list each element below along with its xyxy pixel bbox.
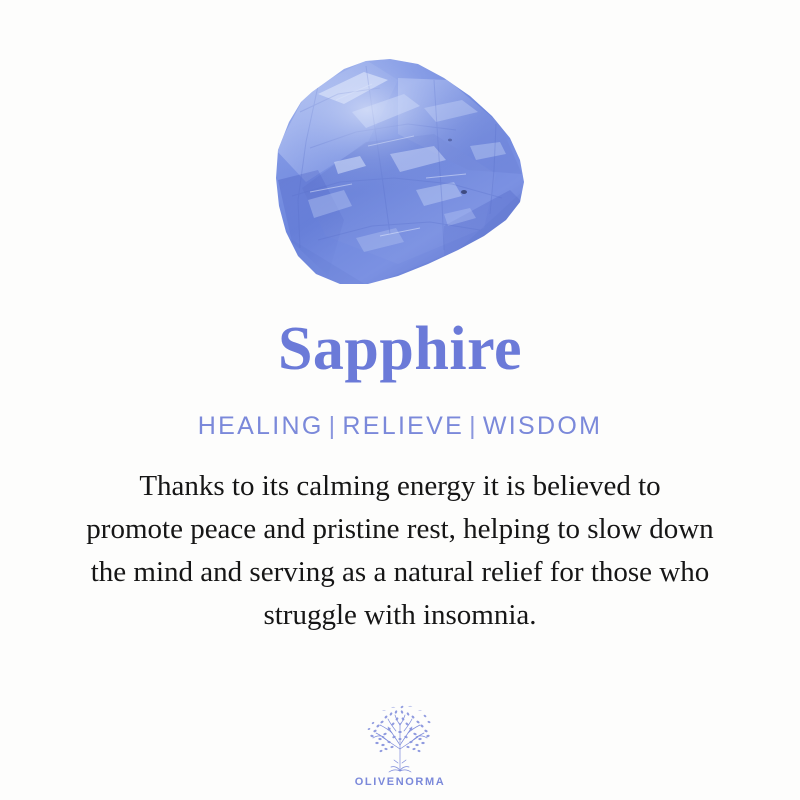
olive-tree-icon: [358, 705, 442, 775]
keyword-wisdom: WISDOM: [483, 412, 602, 440]
page-title: Sapphire: [278, 318, 522, 390]
gemstone-image-area: [0, 0, 800, 318]
keyword-list: HEALING|RELIEVE|WISDOM: [198, 390, 603, 441]
description-line-3: the mind and serving as a natural relief…: [20, 551, 780, 594]
sapphire-info-card: Sapphire HEALING|RELIEVE|WISDOM Thanks t…: [0, 0, 800, 800]
keyword-separator-1: |: [324, 412, 343, 440]
description-text: Thanks to its calming energy it is belie…: [20, 441, 780, 637]
keyword-separator-2: |: [464, 412, 483, 440]
brand-logo[interactable]: OLIVENORMA: [0, 705, 800, 788]
keyword-healing: HEALING: [198, 412, 324, 440]
description-line-1: Thanks to its calming energy it is belie…: [20, 465, 780, 508]
raw-sapphire-crystal-icon: [248, 50, 534, 298]
brand-name: OLIVENORMA: [355, 776, 446, 788]
description-line-2: promote peace and pristine rest, helping…: [20, 508, 780, 551]
description-line-4: struggle with insomnia.: [20, 594, 780, 637]
keyword-relieve: RELIEVE: [342, 412, 464, 440]
stone-facets: [268, 58, 524, 298]
